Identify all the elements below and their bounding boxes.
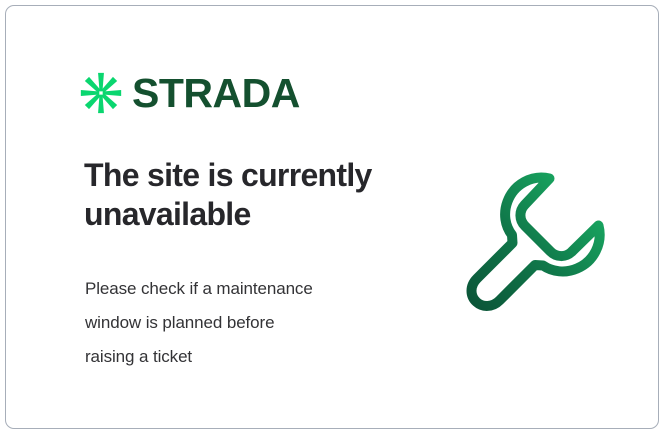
brand-wordmark: STRADA — [132, 73, 300, 114]
body-copy-line: raising a ticket — [85, 340, 395, 374]
wrench-icon — [461, 161, 621, 316]
strada-asterisk-icon — [80, 72, 122, 114]
brand-lockup: STRADA — [80, 72, 300, 114]
page-title: The site is currently unavailable — [84, 156, 424, 234]
maintenance-card: STRADA The site is currently unavailable… — [5, 5, 659, 429]
body-copy-line: window is planned before — [85, 306, 395, 340]
body-copy: Please check if a maintenance window is … — [85, 272, 395, 374]
body-copy-line: Please check if a maintenance — [85, 272, 395, 306]
